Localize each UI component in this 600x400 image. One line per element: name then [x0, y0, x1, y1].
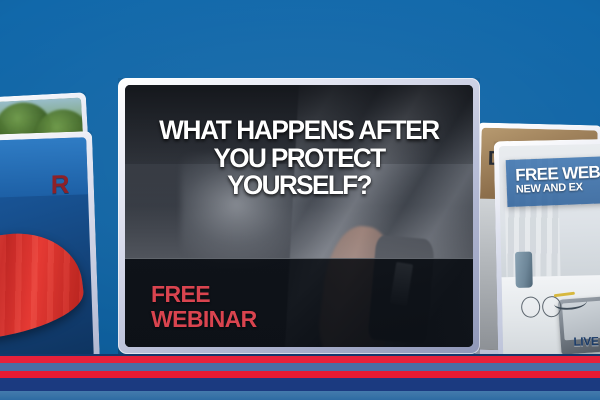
hero-kicker: FREE WEBINAR	[151, 282, 257, 331]
card-photo-desk-flyer: FREE WEB NEW AND EX LIVE ON DE	[499, 144, 600, 358]
hero-headline-line1: WHAT HAPPENS AFTER	[159, 115, 439, 145]
hero-kicker-line1: FREE	[151, 282, 257, 306]
bottom-stripe-bar	[0, 354, 600, 400]
stripe-slate	[0, 363, 600, 371]
hero-headline: WHAT HAPPENS AFTER YOU PROTECT YOURSELF?	[130, 117, 468, 200]
stripe-red-bottom	[0, 371, 600, 378]
stripe-red-top	[0, 356, 600, 363]
hero-kicker-line2: WEBINAR	[151, 307, 257, 331]
carousel-card-left-front[interactable]: R G NS	[0, 131, 100, 369]
hero-photo-container: WHAT HAPPENS AFTER YOU PROTECT YOURSELF?…	[125, 85, 473, 347]
eyeglasses-lens-left	[521, 296, 540, 317]
red-flag-graphic	[0, 226, 87, 351]
stripe-navy	[0, 378, 600, 391]
carousel-card-right-front[interactable]: FREE WEB NEW AND EX LIVE ON DE	[494, 139, 600, 364]
stripe-sheen	[0, 391, 600, 400]
promo-carousel-banner: R G NS DD	[0, 0, 600, 400]
card-photo-flag-flyer: R G NS	[0, 137, 94, 362]
right-card-banner: FREE WEB NEW AND EX	[506, 155, 600, 206]
carousel-card-center-hero[interactable]: WHAT HAPPENS AFTER YOU PROTECT YOURSELF?…	[118, 78, 480, 354]
right-card-footer-text: LIVE ON DE	[573, 333, 600, 348]
flyer-sky-band	[0, 137, 88, 200]
right-card-banner-line1: FREE WEB	[515, 162, 600, 183]
hero-headline-line2: YOU PROTECT YOURSELF?	[140, 145, 458, 200]
left-card-top-text: R	[51, 169, 69, 201]
mug-icon	[515, 252, 532, 288]
